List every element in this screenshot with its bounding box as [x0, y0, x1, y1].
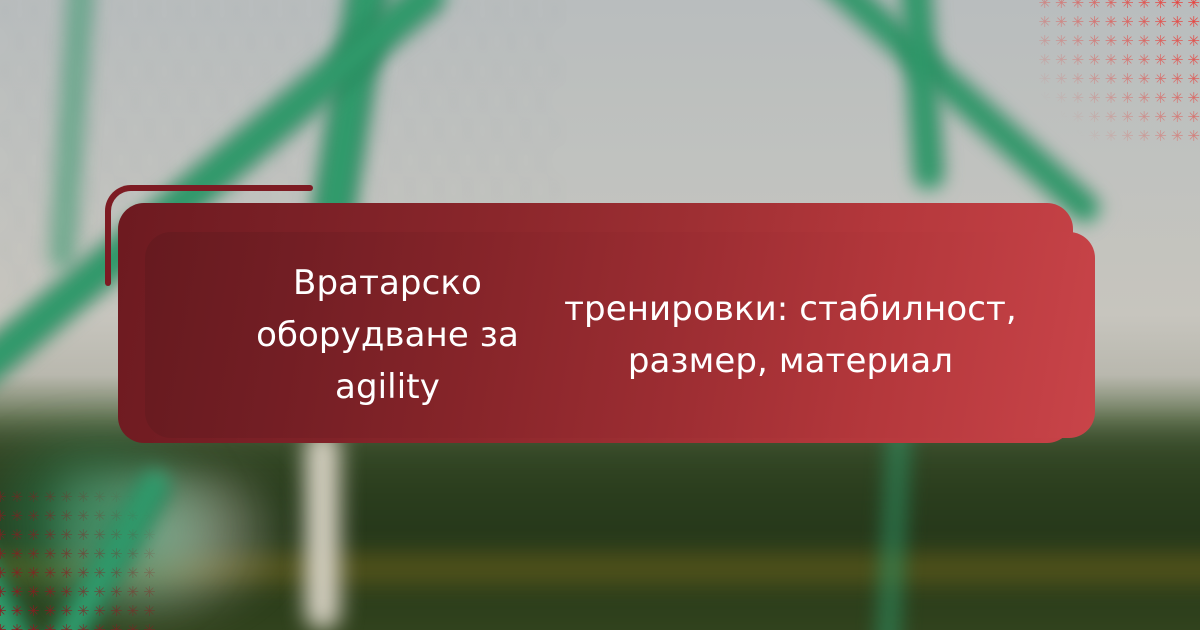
page-title-line-1: Вратарско оборудване за agility	[217, 257, 558, 413]
page-title-line-2: тренировки: стабилност, размер, материал	[558, 283, 1023, 387]
title-card: Вратарско оборудване за agility трениров…	[105, 185, 1100, 445]
goal-post	[305, 430, 341, 630]
social-card-canvas: ✳✳✳✳✳✳✳✳✳✳ ✳✳✳✳✳✳✳✳✳✳ ✳✳✳✳✳✳✳✳✳✳ ✳✳✳✳✳✳✳…	[0, 0, 1200, 630]
page-title: Вратарско оборудване за agility трениров…	[145, 232, 1095, 438]
